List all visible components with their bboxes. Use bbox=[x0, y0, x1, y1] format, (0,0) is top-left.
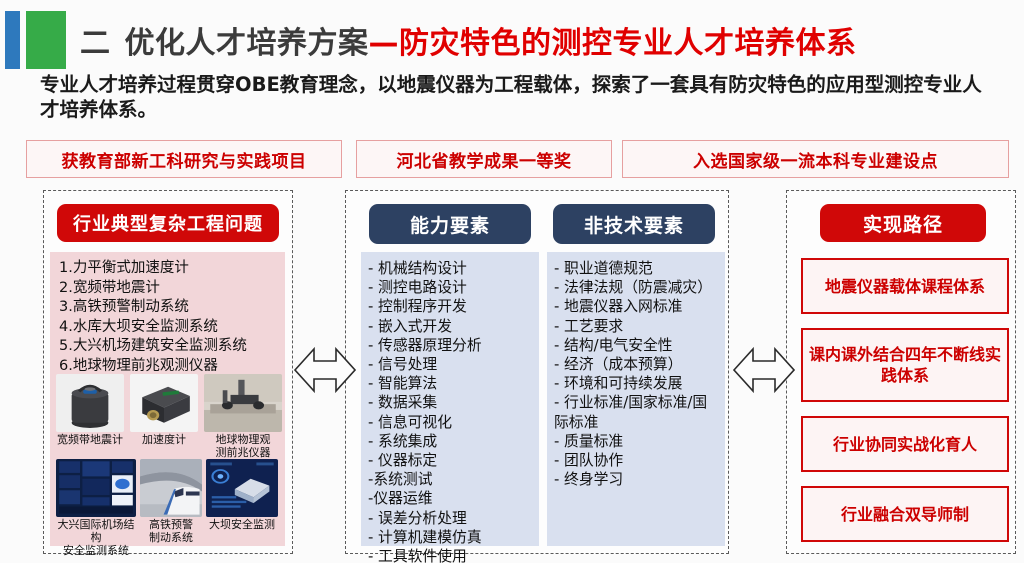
element-list-item: - 法律法规（防震减灾） bbox=[554, 278, 721, 297]
element-list-item: - 信号处理 bbox=[368, 355, 535, 374]
airport-monitoring-dashboard-photo bbox=[56, 459, 136, 517]
element-list-item: - 信息可视化 bbox=[368, 413, 535, 432]
element-list-item: -系统测试 bbox=[368, 470, 535, 489]
problem-list-item: 5.大兴机场建筑安全监测系统 bbox=[59, 337, 285, 357]
award-badge-hebei-teaching-prize: 河北省教学成果一等奖 bbox=[356, 140, 612, 178]
thumbnail-item: 高铁预警制动系统 bbox=[140, 459, 202, 544]
element-list-item: - 数据采集 bbox=[368, 393, 535, 412]
element-list-item: - 传感器原理分析 bbox=[368, 336, 535, 355]
thumbnail-caption: 高铁预警制动系统 bbox=[140, 518, 202, 544]
double-arrow-left-icon bbox=[294, 340, 356, 400]
element-list-item: - 嵌入式开发 bbox=[368, 317, 535, 336]
title-accent-bar-blue bbox=[5, 11, 20, 69]
problems-content-box: 1.力平衡式加速度计2.宽频带地震计3.高铁预警制动系统4.水库大坝安全监测系统… bbox=[50, 252, 285, 546]
thumbnail-item: 大兴国际机场结构安全监测系统 bbox=[56, 459, 136, 557]
seismometer-photo bbox=[56, 374, 124, 432]
accelerometer-photo bbox=[130, 374, 198, 432]
element-list-item: - 智能算法 bbox=[368, 374, 535, 393]
dam-monitoring-dashboard-photo bbox=[206, 459, 278, 517]
element-list-item: - 控制程序开发 bbox=[368, 297, 535, 316]
element-list-item: - 职业道德规范 bbox=[554, 259, 721, 278]
page-title-highlight: —防灾特色的测控专业人才培养体系 bbox=[369, 26, 857, 61]
element-list-item: - 团队协作 bbox=[554, 451, 721, 470]
header-pill-path: 实现路径 bbox=[820, 204, 986, 242]
path-item-practice-system: 课内课外结合四年不断线实践体系 bbox=[801, 328, 1009, 402]
problem-list-item: 1.力平衡式加速度计 bbox=[59, 259, 285, 279]
path-item-course-system: 地震仪器载体课程体系 bbox=[801, 258, 1009, 314]
header-pill-nontech: 非技术要素 bbox=[553, 204, 715, 244]
thumbnail-item: 地球物理观测前兆仪器 bbox=[204, 374, 282, 459]
title-accent-bar-green bbox=[26, 11, 66, 69]
element-list-item: - 计算机建模仿真 bbox=[368, 528, 535, 547]
page-title-main: 优化人才培养方案 bbox=[125, 26, 369, 61]
element-list-item: - 行业标准/国家标准/国际标准 bbox=[554, 393, 721, 431]
thumbnail-caption: 大兴国际机场结构安全监测系统 bbox=[56, 518, 136, 557]
path-item-industry-collaboration: 行业协同实战化育人 bbox=[801, 416, 1009, 472]
path-item-dual-mentor: 行业融合双导师制 bbox=[801, 486, 1009, 542]
problem-list-item: 4.水库大坝安全监测系统 bbox=[59, 318, 285, 338]
element-list-item: - 误差分析处理 bbox=[368, 509, 535, 528]
page-title: 二优化人才培养方案—防灾特色的测控专业人才培养体系 bbox=[80, 18, 857, 62]
award-badge-moe-project: 获教育部新工科研究与实践项目 bbox=[26, 140, 342, 178]
award-badge-national-first-class-major: 入选国家级一流本科专业建设点 bbox=[622, 140, 1009, 178]
problems-list: 1.力平衡式加速度计2.宽频带地震计3.高铁预警制动系统4.水库大坝安全监测系统… bbox=[50, 252, 285, 377]
double-arrow-right-icon bbox=[733, 340, 795, 400]
high-speed-train-photo bbox=[140, 459, 202, 517]
element-list-item: - 测控电路设计 bbox=[368, 278, 535, 297]
thumbnail-item: 大坝安全监测 bbox=[206, 459, 278, 531]
element-list-item: - 环境和可持续发展 bbox=[554, 374, 721, 393]
element-list-item: -仪器运维 bbox=[368, 489, 535, 508]
thumbnail-caption: 地球物理观测前兆仪器 bbox=[204, 433, 282, 459]
element-list-item: - 终身学习 bbox=[554, 470, 721, 489]
page-subtitle: 专业人才培养过程贯穿OBE教育理念，以地震仪器为工程载体，探索了一套具有防灾特色… bbox=[40, 72, 1000, 122]
element-list-item: - 仪器标定 bbox=[368, 451, 535, 470]
element-list-item: - 质量标准 bbox=[554, 432, 721, 451]
header-pill-problems: 行业典型复杂工程问题 bbox=[57, 204, 279, 242]
slide-canvas: 二优化人才培养方案—防灾特色的测控专业人才培养体系 专业人才培养过程贯穿OBE教… bbox=[0, 0, 1024, 563]
ability-elements-list: - 机械结构设计- 测控电路设计- 控制程序开发- 嵌入式开发- 传感器原理分析… bbox=[361, 252, 539, 546]
thumbnail-caption: 大坝安全监测 bbox=[206, 518, 278, 531]
thumbnail-caption: 宽频带地震计 bbox=[56, 433, 124, 446]
geophysics-instrument-photo bbox=[204, 374, 282, 432]
thumbnail-row-instruments: 宽频带地震计 加速度计 地球物理观测前兆仪器 bbox=[50, 374, 285, 459]
element-list-item: - 工艺要求 bbox=[554, 317, 721, 336]
page-title-number: 二 bbox=[80, 26, 111, 61]
thumbnail-caption: 加速度计 bbox=[130, 433, 198, 446]
element-list-item: - 工具软件使用 bbox=[368, 547, 535, 563]
thumbnail-row-systems: 大兴国际机场结构安全监测系统 高铁预警制动系统 大坝安全监测 bbox=[50, 459, 285, 557]
element-list-item: - 地震仪器入网标准 bbox=[554, 297, 721, 316]
problems-thumbnail-gallery: 宽频带地震计 加速度计 地球物理观测前兆仪器 bbox=[50, 374, 285, 557]
element-list-item: - 经济（成本预算） bbox=[554, 355, 721, 374]
thumbnail-item: 宽频带地震计 bbox=[56, 374, 124, 446]
element-list-item: - 系统集成 bbox=[368, 432, 535, 451]
nontech-elements-list: - 职业道德规范- 法律法规（防震减灾）- 地震仪器入网标准- 工艺要求- 结构… bbox=[547, 252, 725, 546]
header-pill-ability: 能力要素 bbox=[369, 204, 531, 244]
problem-list-item: 3.高铁预警制动系统 bbox=[59, 298, 285, 318]
element-list-item: - 机械结构设计 bbox=[368, 259, 535, 278]
problem-list-item: 2.宽频带地震计 bbox=[59, 279, 285, 299]
thumbnail-item: 加速度计 bbox=[130, 374, 198, 446]
element-list-item: - 结构/电气安全性 bbox=[554, 336, 721, 355]
